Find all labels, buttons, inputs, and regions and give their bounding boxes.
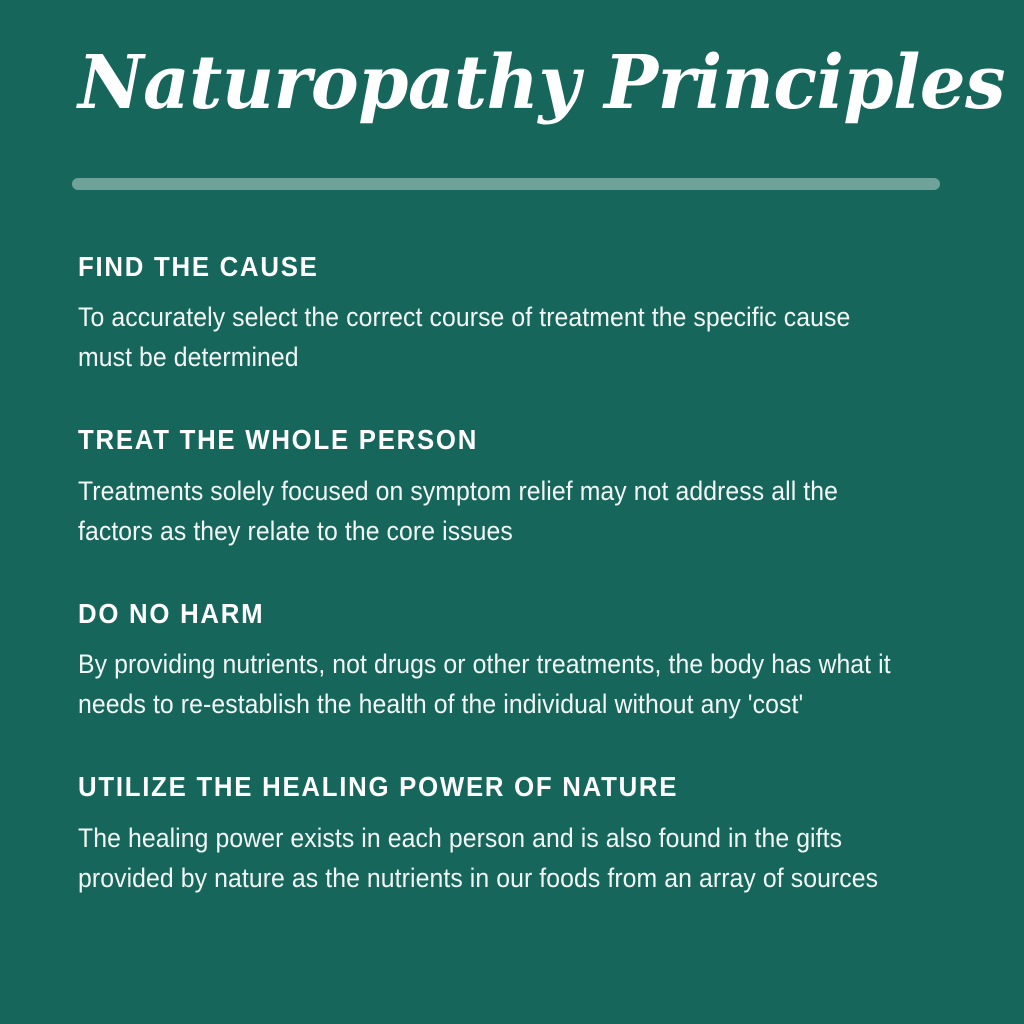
principle-heading: UTILIZE THE HEALING POWER OF NATURE [78, 772, 893, 801]
naturopathy-principles-poster: Naturopathy Principles FIND THE CAUSE To… [0, 0, 1024, 1024]
principle-item-utilize-the-healing-power-of-nature: UTILIZE THE HEALING POWER OF NATURE The … [0, 772, 1024, 897]
principle-item-do-no-harm: DO NO HARM By providing nutrients, not d… [0, 599, 1024, 724]
principle-heading: TREAT THE WHOLE PERSON [78, 425, 893, 454]
page-title: Naturopathy Principles [78, 46, 932, 120]
principle-body: Treatments solely focused on symptom rel… [78, 471, 906, 551]
principles-list: FIND THE CAUSE To accurately select the … [0, 252, 1024, 898]
principle-item-find-the-cause: FIND THE CAUSE To accurately select the … [0, 252, 1024, 377]
title-divider [72, 178, 940, 190]
principle-heading: FIND THE CAUSE [78, 252, 893, 281]
principle-heading: DO NO HARM [78, 599, 893, 628]
principle-item-treat-the-whole-person: TREAT THE WHOLE PERSON Treatments solely… [0, 425, 1024, 550]
principle-body: To accurately select the correct course … [78, 297, 906, 377]
principle-body: By providing nutrients, not drugs or oth… [78, 644, 906, 724]
principle-body: The healing power exists in each person … [78, 818, 906, 898]
